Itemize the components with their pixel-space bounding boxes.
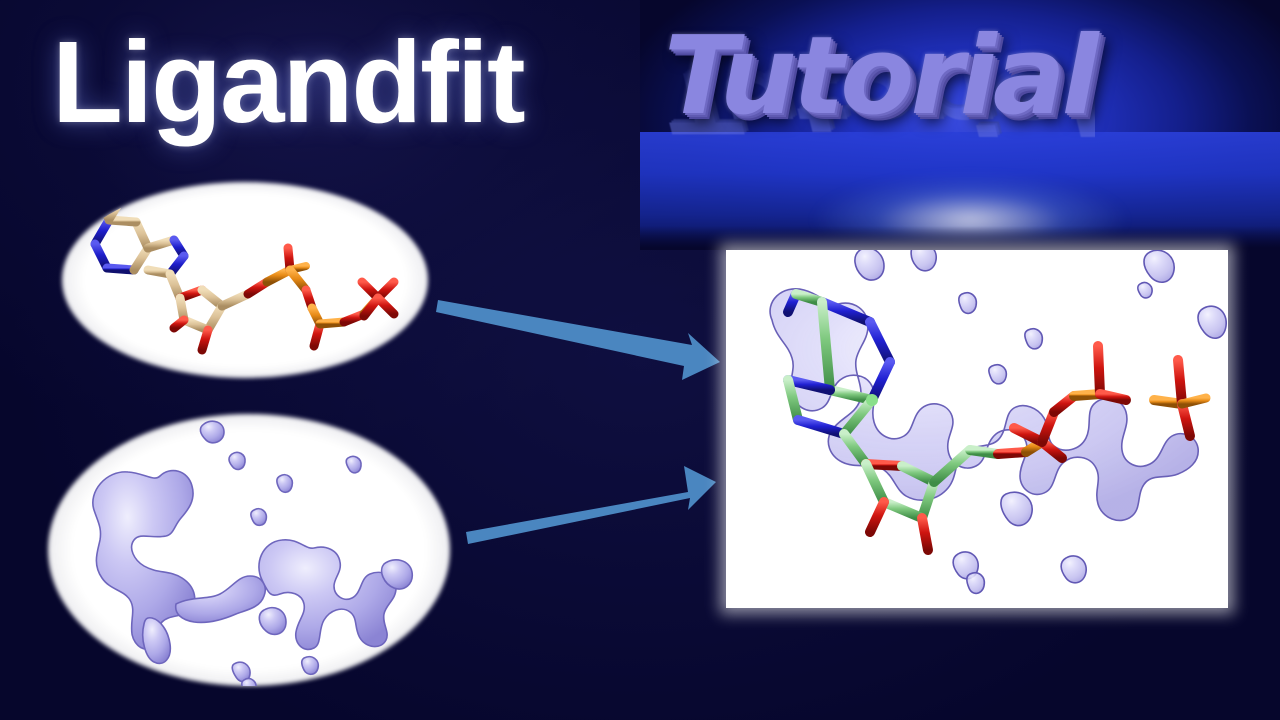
ligand-model-ellipse bbox=[62, 182, 428, 378]
fitted-result-clip bbox=[726, 250, 1228, 608]
tutorial-banner: Tutorial Tutorial bbox=[640, 0, 1280, 250]
banner-bottom-fade bbox=[640, 226, 1280, 250]
page-title: Ligandfit bbox=[52, 24, 524, 140]
banner-text: Tutorial bbox=[664, 14, 1095, 139]
density-map-clip bbox=[48, 414, 450, 686]
density-map-surface bbox=[48, 414, 450, 686]
arrow-density-to-result bbox=[440, 440, 740, 560]
fitted-result-panel bbox=[726, 250, 1228, 608]
tutorial-slide: Ligandfit Tutorial Tutorial bbox=[0, 0, 1280, 720]
fitted-result-structure bbox=[726, 250, 1228, 608]
density-map-ellipse bbox=[48, 414, 450, 686]
arrow-model-to-result bbox=[420, 280, 740, 400]
ligand-model-clip bbox=[62, 182, 428, 378]
ligand-model-structure bbox=[62, 182, 428, 378]
